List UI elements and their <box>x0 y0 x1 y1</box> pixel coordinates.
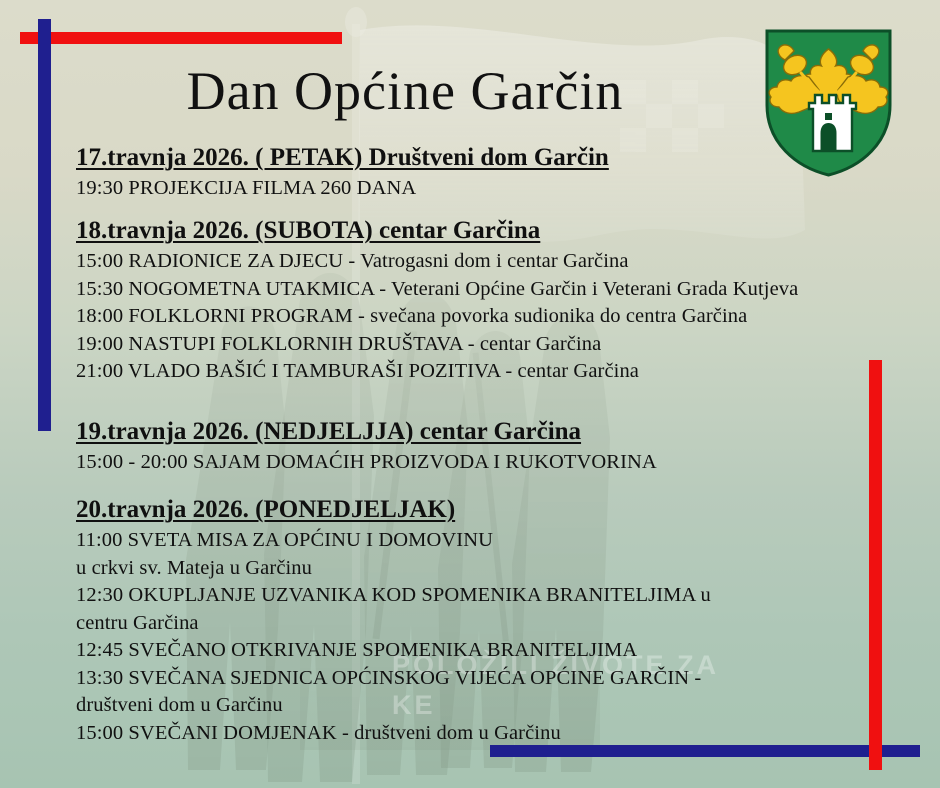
event-line: 21:00 VLADO BAŠIĆ I TAMBURAŠI POZITIVA -… <box>76 358 926 385</box>
decor-bar-red-horizontal-top <box>20 32 342 44</box>
day-heading-saturday: 18.travnja 2026. (SUBOTA) centar Garčina <box>76 216 926 246</box>
event-line: 15:00 - 20:00 SAJAM DOMAĆIH PROIZVODA I … <box>76 449 926 476</box>
day-heading-friday: 17.travnja 2026. ( PETAK) Društveni dom … <box>76 143 926 173</box>
day-block-monday: 20.travnja 2026. (PONEDJELJAK)11:00 SVET… <box>76 495 926 747</box>
event-line: u crkvi sv. Mateja u Garčinu <box>76 555 926 582</box>
poster-canvas: POLOŽILI ŽIVOTE ZA KE <box>0 0 940 788</box>
day-heading-sunday: 19.travnja 2026. (NEDJELJJA) centar Garč… <box>76 417 926 447</box>
event-list-saturday: 15:00 RADIONICE ZA DJECU - Vatrogasni do… <box>76 248 926 385</box>
day-block-saturday: 18.travnja 2026. (SUBOTA) centar Garčina… <box>76 216 926 385</box>
event-list-sunday: 15:00 - 20:00 SAJAM DOMAĆIH PROIZVODA I … <box>76 449 926 476</box>
event-line: 19:00 NASTUPI FOLKLORNIH DRUŠTAVA - cent… <box>76 331 926 358</box>
day-block-sunday: 19.travnja 2026. (NEDJELJJA) centar Garč… <box>76 417 926 476</box>
event-line: 13:30 SVEČANA SJEDNICA OPĆINSKOG VIJEĆA … <box>76 665 926 692</box>
event-line: 12:45 SVEČANO OTKRIVANJE SPOMENIKA BRANI… <box>76 637 926 664</box>
event-line: 11:00 SVETA MISA ZA OPĆINU I DOMOVINU <box>76 527 926 554</box>
event-line: 15:00 RADIONICE ZA DJECU - Vatrogasni do… <box>76 248 926 275</box>
event-list-friday: 19:30 PROJEKCIJA FILMA 260 DANA <box>76 175 926 202</box>
day-block-friday: 17.travnja 2026. ( PETAK) Društveni dom … <box>76 143 926 202</box>
schedule-list: 17.travnja 2026. ( PETAK) Društveni dom … <box>76 143 926 760</box>
event-list-monday: 11:00 SVETA MISA ZA OPĆINU I DOMOVINUu c… <box>76 527 926 747</box>
event-line: 19:30 PROJEKCIJA FILMA 260 DANA <box>76 175 926 202</box>
event-line: 18:00 FOLKLORNI PROGRAM - svečana povork… <box>76 303 926 330</box>
event-line: 12:30 OKUPLJANJE UZVANIKA KOD SPOMENIKA … <box>76 582 926 609</box>
event-line: 15:30 NOGOMETNA UTAKMICA - Veterani Opći… <box>76 276 926 303</box>
page-title: Dan Općine Garčin <box>0 60 810 122</box>
event-line: 15:00 SVEČANI DOMJENAK - društveni dom u… <box>76 720 926 747</box>
event-line: društveni dom u Garčinu <box>76 692 926 719</box>
day-heading-monday: 20.travnja 2026. (PONEDJELJAK) <box>76 495 926 525</box>
event-line: centru Garčina <box>76 610 926 637</box>
